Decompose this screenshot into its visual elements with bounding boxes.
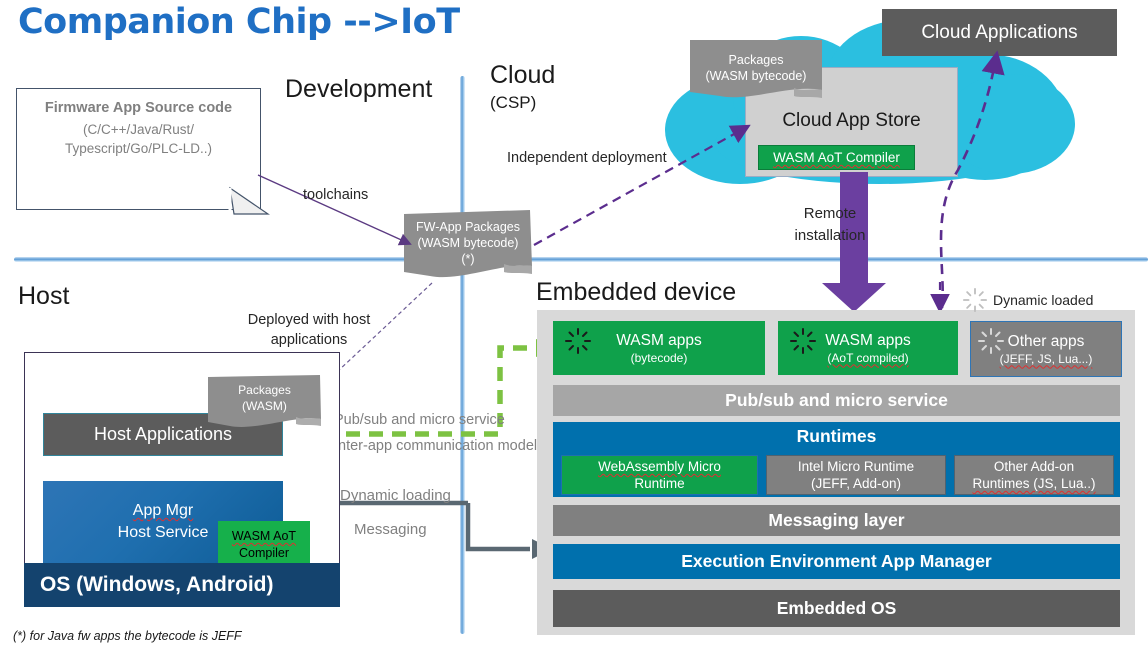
- annotation-messaging: Messaging: [354, 520, 427, 539]
- firmware-source-box: Firmware App Source code (C/C++/Java/Rus…: [16, 88, 261, 210]
- fw-packages-line3: (*): [404, 251, 532, 267]
- embedded-os-label: Embedded OS: [777, 598, 897, 619]
- annotation-remote-installation: Remote installation: [770, 203, 890, 247]
- embedded-app-2-title: Other apps: [1008, 333, 1085, 351]
- spinner-icon-app1: [790, 328, 816, 354]
- page-title: Companion Chip -->IoT: [18, 2, 460, 42]
- embedded-app-0-title: WASM apps: [616, 332, 702, 350]
- footnote-text: (*) for Java fw apps the bytecode is JEF…: [13, 629, 242, 643]
- fw-packages-line1: FW-App Packages: [404, 219, 532, 235]
- remote-installation-line2: installation: [770, 225, 890, 247]
- host-packages-line1: Packages: [208, 382, 321, 398]
- annotation-independent-deployment: Independent deployment: [507, 149, 667, 168]
- embedded-runtime-box-2[interactable]: Other Add-on Runtimes (JS, Lua..): [954, 455, 1114, 495]
- annotation-dynamic-loading: Dynamic loading: [340, 486, 451, 505]
- fw-app-packages-text: FW-App Packages (WASM bytecode) (*): [404, 219, 532, 267]
- embedded-runtimes-header: Runtimes: [553, 424, 1120, 448]
- embedded-pubsub-bar[interactable]: Pub/sub and micro service: [553, 385, 1120, 416]
- cloud-wasm-aot-compiler-label: WASM AoT Compiler: [773, 150, 900, 165]
- host-packages-text: Packages (WASM): [208, 382, 321, 414]
- cloud-applications-label: Cloud Applications: [921, 22, 1077, 44]
- annotation-pubsub-micro: Pub/sub and micro service: [334, 411, 505, 430]
- embedded-app-2-sub: (JEFF, JS, Lua...): [1000, 352, 1093, 366]
- fw-packages-line2: (WASM bytecode): [404, 235, 532, 251]
- annotation-inter-app: Inter-app communication models: [334, 437, 544, 456]
- cloud-applications-box[interactable]: Cloud Applications: [882, 9, 1117, 56]
- section-heading-cloud-sub: (CSP): [490, 93, 536, 113]
- app-mgr-line2: Host Service: [118, 522, 209, 544]
- section-heading-cloud: Cloud: [490, 61, 555, 90]
- section-heading-host: Host: [18, 282, 69, 311]
- embedded-messaging-layer-label: Messaging layer: [768, 510, 904, 531]
- spinner-icon-app0: [565, 328, 591, 354]
- horizontal-divider: [14, 257, 1148, 262]
- remote-installation-line1: Remote: [770, 203, 890, 225]
- cloud-packages-line1: Packages: [690, 52, 822, 68]
- embedded-runtime-2-line1: Other Add-on: [994, 458, 1074, 475]
- footnote: (*) for Java fw apps the bytecode is JEF…: [13, 629, 242, 643]
- embedded-runtime-1-line1: Intel Micro Runtime: [798, 458, 914, 475]
- embedded-app-manager-label: Execution Environment App Manager: [681, 551, 992, 572]
- embedded-app-1-sub: (AoT compiled): [827, 351, 908, 365]
- cloud-packages-callout-text: Packages (WASM bytecode): [690, 52, 822, 84]
- annotation-deployed-with-host: Deployed with host applications: [219, 310, 399, 350]
- deployed-host-line2: applications: [219, 330, 399, 350]
- embedded-pubsub-label: Pub/sub and micro service: [725, 390, 948, 411]
- host-os-box[interactable]: OS (Windows, Android): [24, 563, 340, 607]
- firmware-source-line1: (C/C++/Java/Rust/: [17, 120, 260, 139]
- firmware-source-title: Firmware App Source code: [17, 100, 260, 116]
- embedded-messaging-layer-bar[interactable]: Messaging layer: [553, 505, 1120, 536]
- host-wasm-aot-line2: Compiler: [239, 545, 289, 562]
- embedded-app-0-sub: (bytecode): [631, 351, 688, 365]
- cloud-wasm-aot-compiler-box[interactable]: WASM AoT Compiler: [758, 145, 915, 170]
- app-mgr-line1: App Mgr: [133, 500, 193, 522]
- cloud-packages-line2: (WASM bytecode): [690, 68, 822, 84]
- embedded-app-manager-bar[interactable]: Execution Environment App Manager: [553, 544, 1120, 579]
- cloud-app-store-title: Cloud App Store: [745, 110, 958, 132]
- embedded-runtime-1-line2: (JEFF, Add-on): [811, 475, 901, 492]
- spinner-icon-app2: [978, 328, 1004, 354]
- diagram-canvas: Companion Chip -->IoT Development Cloud …: [0, 0, 1148, 653]
- deployed-host-line1: Deployed with host: [219, 310, 399, 330]
- annotation-dynamic-loaded: Dynamic loaded: [993, 291, 1093, 310]
- embedded-runtime-0-line2: Runtime: [634, 475, 684, 492]
- section-heading-development: Development: [285, 75, 432, 104]
- host-wasm-aot-compiler-box[interactable]: WASM AoT Compiler: [218, 521, 310, 569]
- embedded-runtime-box-1[interactable]: Intel Micro Runtime (JEFF, Add-on): [766, 455, 946, 495]
- embedded-runtime-0-line1: WebAssembly Micro: [598, 458, 721, 475]
- firmware-source-box-tail: [230, 188, 270, 216]
- embedded-os-bar[interactable]: Embedded OS: [553, 590, 1120, 627]
- section-heading-embedded: Embedded device: [536, 278, 736, 307]
- embedded-runtime-box-0[interactable]: WebAssembly Micro Runtime: [561, 455, 758, 495]
- annotation-toolchains: toolchains: [303, 186, 368, 205]
- embedded-app-1-title: WASM apps: [825, 332, 911, 350]
- firmware-source-line2: Typescript/Go/PLC-LD..): [17, 139, 260, 158]
- host-packages-line2: (WASM): [208, 398, 321, 414]
- spinner-icon-legend: [963, 288, 987, 312]
- host-wasm-aot-line1: WASM AoT: [232, 528, 296, 545]
- host-os-label: OS (Windows, Android): [40, 573, 274, 597]
- embedded-runtime-2-line2: Runtimes (JS, Lua..): [972, 475, 1095, 492]
